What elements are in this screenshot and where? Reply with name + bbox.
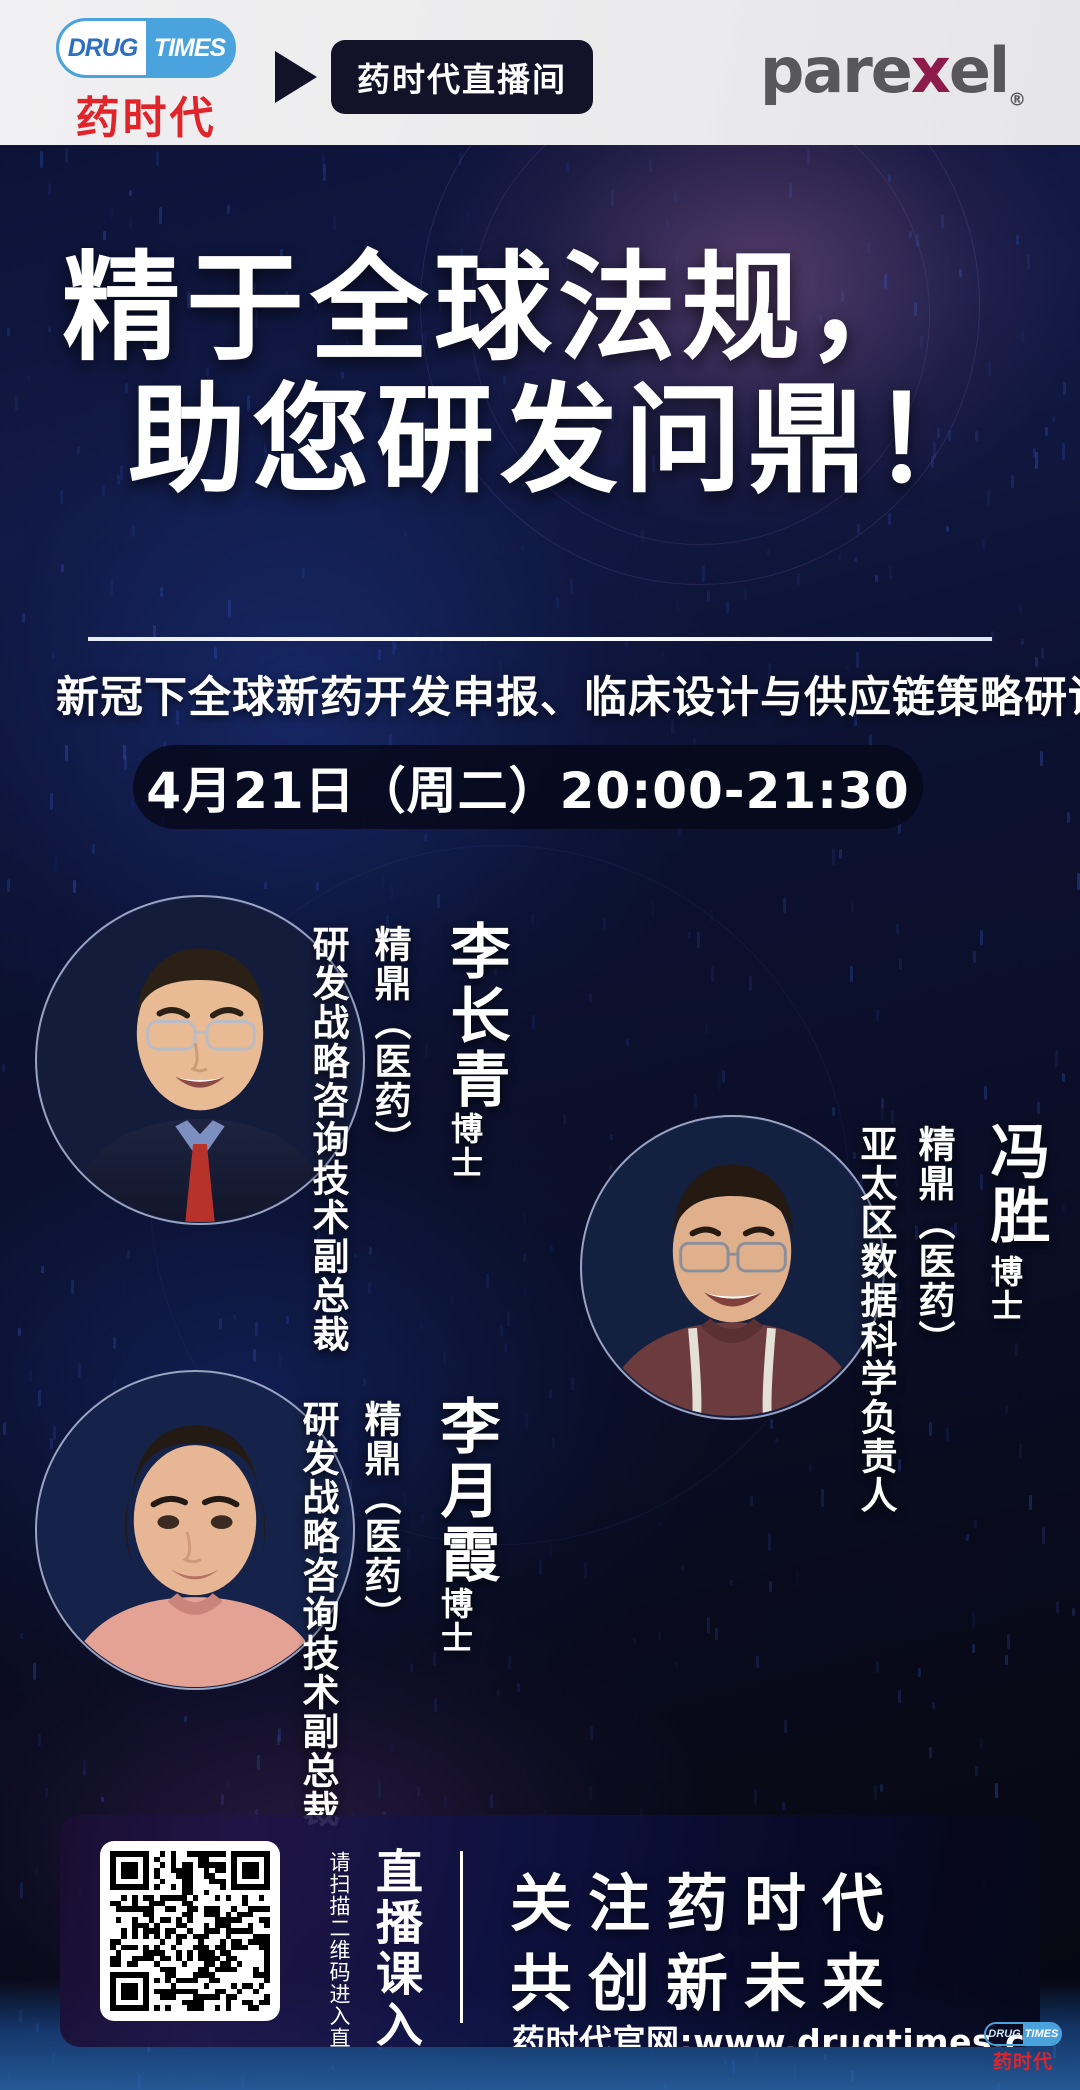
drugtimes-logo: DRUG TIMES 药时代 xyxy=(56,18,236,146)
logo-chinese-name: 药时代 xyxy=(56,82,236,146)
speaker-2-role: 亚太区数据科学负责人 xyxy=(848,1125,902,1515)
live-room-badge[interactable]: 药时代直播间 xyxy=(275,40,593,114)
speaker-1-name: 李长青 xyxy=(432,920,519,1112)
logo-left-half: DRUG xyxy=(59,21,146,75)
speaker-1-org: 精鼎（医药） xyxy=(362,925,416,1159)
page-title-line2: 助您研发问鼎！ xyxy=(128,377,996,504)
footer-slogan-line2: 共创新未来 xyxy=(510,1933,900,2023)
logo-right-half: TIMES xyxy=(146,21,233,75)
speaker-3-role: 研发战略咨询技术副总裁 xyxy=(290,1400,344,1829)
event-date-label: 4月21日（周二）20:00-21:30 xyxy=(146,751,909,823)
speaker-1-degree: 博士 xyxy=(442,1112,488,1180)
speaker-2-degree: 博士 xyxy=(982,1255,1028,1323)
watermark-chinese: 药时代 xyxy=(984,2047,1062,2074)
speaker-3-name: 李月霞 xyxy=(422,1395,509,1587)
speaker-1-role: 研发战略咨询技术副总裁 xyxy=(300,925,354,1354)
speaker-2-portrait xyxy=(582,1117,883,1418)
watermark-word-times: TIMES xyxy=(1023,2024,1060,2044)
speaker-2-name: 冯胜 xyxy=(972,1120,1059,1248)
event-subtitle: 新冠下全球新药开发申报、临床设计与供应链策略研讨会 xyxy=(56,663,1046,725)
parexel-x: x xyxy=(911,34,949,107)
live-entry-label: 直播课入口 xyxy=(360,1847,429,2047)
speaker-3-org: 精鼎（医药） xyxy=(352,1400,406,1634)
speaker-2-avatar xyxy=(580,1115,885,1420)
drugtimes-pill-icon: DRUG TIMES xyxy=(56,18,236,78)
speaker-2-org: 精鼎（医药） xyxy=(906,1125,960,1359)
footer-website[interactable]: 药时代官网:www.drugtimes.cn xyxy=(512,2015,1040,2047)
logo-word-times: TIMES xyxy=(154,34,225,63)
parexel-logo: parexel® xyxy=(760,34,1024,110)
qr-code-pattern xyxy=(110,1851,270,2011)
watermark-word-drug: DRUG xyxy=(986,2024,1023,2044)
header-bar: DRUG TIMES 药时代 药时代直播间 parexel® xyxy=(0,0,1080,145)
logo-word-drug: DRUG xyxy=(68,34,138,63)
parexel-post: el xyxy=(949,34,1008,107)
qr-code[interactable] xyxy=(100,1841,280,2021)
qr-scan-hint: 请扫描二维码进入直播课 xyxy=(324,1851,354,2047)
title-divider-rule xyxy=(88,637,992,641)
live-badge-label: 药时代直播间 xyxy=(331,40,593,114)
poster-root: DRUG TIMES 药时代 药时代直播间 parexel® 精于全球法规， 助… xyxy=(0,0,1080,2090)
watermark-pill-icon: DRUG TIMES xyxy=(984,2022,1062,2046)
watermark-logo: DRUG TIMES 药时代 xyxy=(984,2022,1062,2074)
parexel-pre: pare xyxy=(760,34,911,107)
play-triangle-icon xyxy=(275,51,317,103)
registered-mark-icon: ® xyxy=(1008,89,1024,110)
speaker-3-degree: 博士 xyxy=(432,1587,478,1655)
footer-slogan-line1: 关注药时代 xyxy=(510,1853,900,1943)
footer-divider xyxy=(460,1851,463,2023)
footer-cta-panel: 请扫描二维码进入直播课 直播课入口 关注药时代 共创新未来 药时代官网:www.… xyxy=(60,1815,1040,2047)
page-title-line1: 精于全球法规， xyxy=(62,245,930,372)
event-date-badge: 4月21日（周二）20:00-21:30 xyxy=(133,745,923,829)
